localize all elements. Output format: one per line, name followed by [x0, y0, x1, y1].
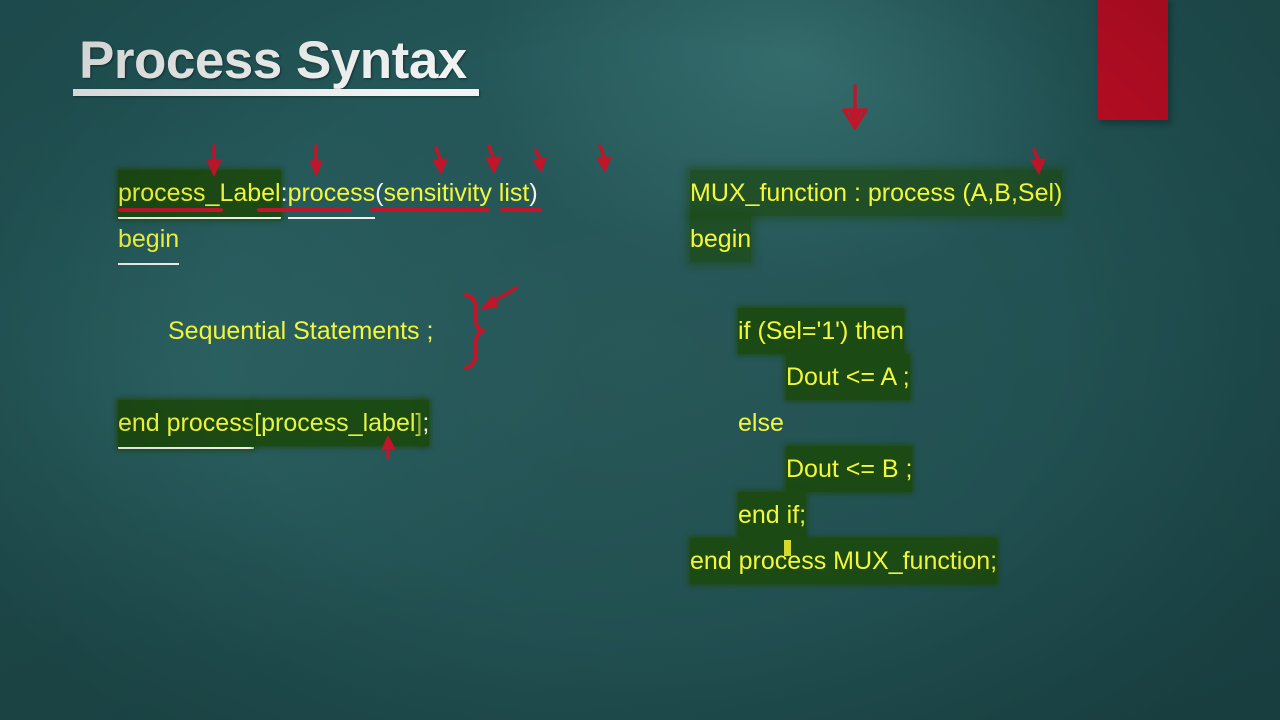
red-underline-sensitivity	[370, 208, 490, 212]
code-line-else: else	[690, 400, 1062, 446]
code-line-mux-end-process: end process MUX_function;	[690, 538, 1062, 584]
code-line-mux-declaration: MUX_function : process (A,B,Sel)	[690, 170, 1062, 216]
token-mux-end-process: end process MUX_function;	[690, 538, 997, 584]
slide-canvas: Process Syntax process_Label : process (…	[0, 0, 1280, 720]
page-title: Process Syntax	[79, 30, 467, 91]
title-underline-rule	[73, 89, 479, 96]
token-semicolon: ;	[422, 400, 429, 446]
code-line-assign-a: Dout <= A ;	[690, 354, 1062, 400]
code-line-blank-2	[118, 354, 538, 400]
token-end-if: end if;	[738, 492, 806, 538]
token-begin-keyword: begin	[118, 216, 179, 265]
code-line-begin: begin	[118, 216, 538, 262]
decorative-red-block	[1097, 0, 1168, 120]
red-underline-process-label	[118, 208, 223, 212]
code-line-end-process: end process [process_label] ;	[118, 400, 538, 446]
mouse-cursor-artifact	[784, 540, 791, 556]
code-block-generic-syntax: process_Label : process (sensitivity lis…	[118, 170, 538, 446]
red-underline-list	[500, 208, 542, 212]
token-if-condition: if (Sel='1') then	[738, 308, 904, 354]
token-end-process-keyword: end process	[118, 400, 254, 449]
arrow-close-paren-icon	[597, 146, 611, 172]
token-assign-dout-a: Dout <= A ;	[786, 354, 910, 400]
code-line-mux-begin: begin	[690, 216, 1062, 262]
red-underline-process-keyword	[257, 208, 352, 212]
token-sequential-statements: Sequential Statements ;	[168, 308, 433, 354]
code-line-process-label: process_Label : process (sensitivity lis…	[118, 170, 538, 216]
code-line-end-if: end if;	[690, 492, 1062, 538]
token-mux-begin: begin	[690, 216, 751, 262]
code-line-blank-1	[118, 262, 538, 308]
token-mux-declaration: MUX_function : process (A,B,Sel)	[690, 170, 1062, 216]
token-optional-process-label: [process_label]	[254, 400, 422, 446]
code-line-assign-b: Dout <= B ;	[690, 446, 1062, 492]
code-line-if-condition: if (Sel='1') then	[690, 308, 1062, 354]
arrow-mux-function-icon	[844, 86, 866, 128]
arrow-sensitivity-icon	[486, 146, 501, 173]
code-line-sequential-statements: Sequential Statements ;	[118, 308, 538, 354]
code-line-mux-blank	[690, 262, 1062, 308]
code-block-mux-example: MUX_function : process (A,B,Sel) begin i…	[690, 170, 1062, 584]
token-else-keyword: else	[738, 400, 784, 446]
arrow-list-icon	[533, 150, 546, 172]
token-assign-dout-b: Dout <= B ;	[786, 446, 912, 492]
